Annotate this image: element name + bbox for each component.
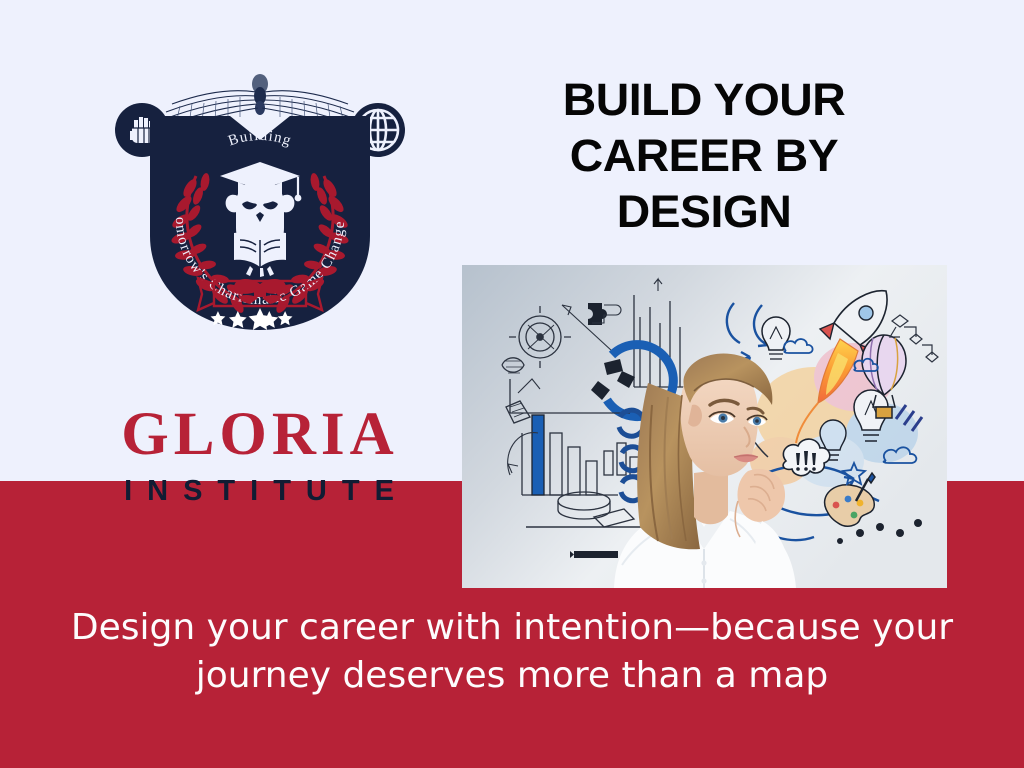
institute-logo: Building Tomorrow's Charismatic Game Cha… bbox=[110, 68, 410, 458]
tagline-line-2: journey deserves more than a map bbox=[62, 652, 962, 700]
wordmark-primary: GLORIA bbox=[110, 404, 410, 465]
headline-line-3: DESIGN bbox=[502, 184, 906, 240]
crest-graphic: Building Tomorrow's Charismatic Game Cha… bbox=[110, 68, 410, 343]
headline-line-2: CAREER BY bbox=[502, 128, 906, 184]
wordmark-secondary: INSTITUTE bbox=[110, 477, 410, 506]
tagline-line-1: Design your career with intention—becaus… bbox=[62, 604, 962, 652]
hero-photo-illustration bbox=[462, 265, 947, 588]
headline: BUILD YOUR CAREER BY DESIGN bbox=[502, 72, 906, 240]
headline-line-1: BUILD YOUR bbox=[502, 72, 906, 128]
pen-icon bbox=[570, 551, 618, 558]
wordmark: GLORIA INSTITUTE bbox=[110, 404, 410, 506]
crest-emblem: Building Tomorrow's Charismatic Game Cha… bbox=[110, 68, 410, 343]
hero-photo bbox=[462, 265, 947, 588]
poster-canvas: Building Tomorrow's Charismatic Game Cha… bbox=[0, 0, 1024, 768]
tagline: Design your career with intention—becaus… bbox=[62, 604, 962, 700]
